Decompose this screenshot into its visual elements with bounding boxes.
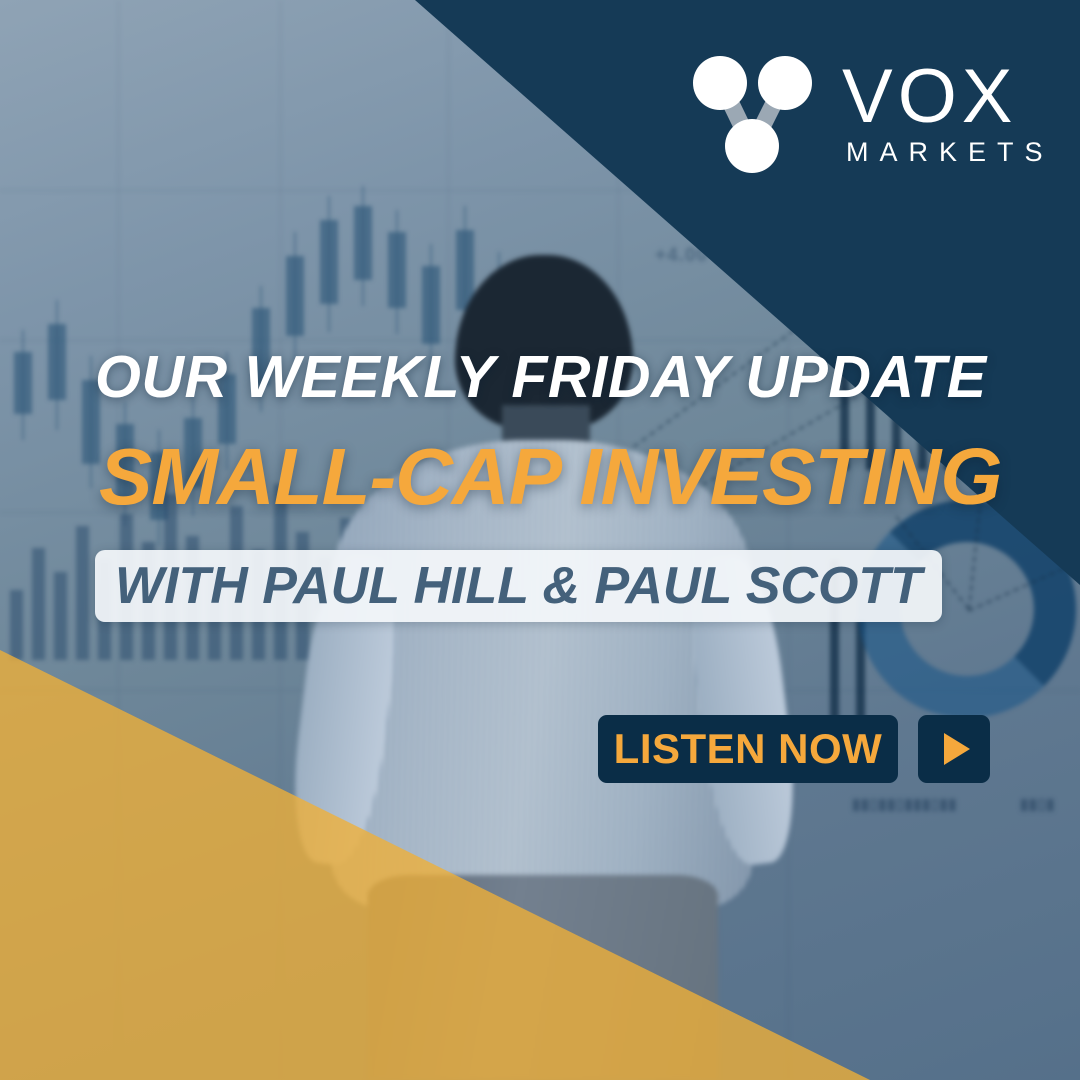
listen-now-button[interactable]: LISTEN NOW	[598, 715, 898, 783]
hosts-label: WITH PAUL HILL & PAUL SCOTT	[115, 560, 922, 612]
logo-subtitle: MARKETS	[846, 139, 1054, 166]
eyebrow-text: OUR WEEKLY FRIDAY UPDATE	[95, 348, 987, 407]
play-button[interactable]	[918, 715, 990, 783]
play-triangle-icon	[944, 733, 970, 765]
page-title: SMALL-CAP INVESTING	[99, 437, 1001, 517]
vox-v-node-logo-icon	[690, 55, 815, 173]
logo-wordmark: VOX	[842, 59, 1018, 135]
background-illegible-text-1: ▮▮▯▮▮▯▮▮▮▯▮▮	[852, 795, 957, 813]
listen-now-label: LISTEN NOW	[614, 728, 883, 770]
hosts-bar: WITH PAUL HILL & PAUL SCOTT	[95, 550, 942, 622]
background-illegible-text-2: ▮▮▯▮	[1020, 795, 1055, 813]
promo-graphic: +4.00 ▮▮▯▮▮▯▮▮▮▯▮▮ ▮▮▯▮ VOX MARKETS OUR …	[0, 0, 1080, 1080]
vox-markets-logo: VOX MARKETS	[690, 55, 1030, 180]
